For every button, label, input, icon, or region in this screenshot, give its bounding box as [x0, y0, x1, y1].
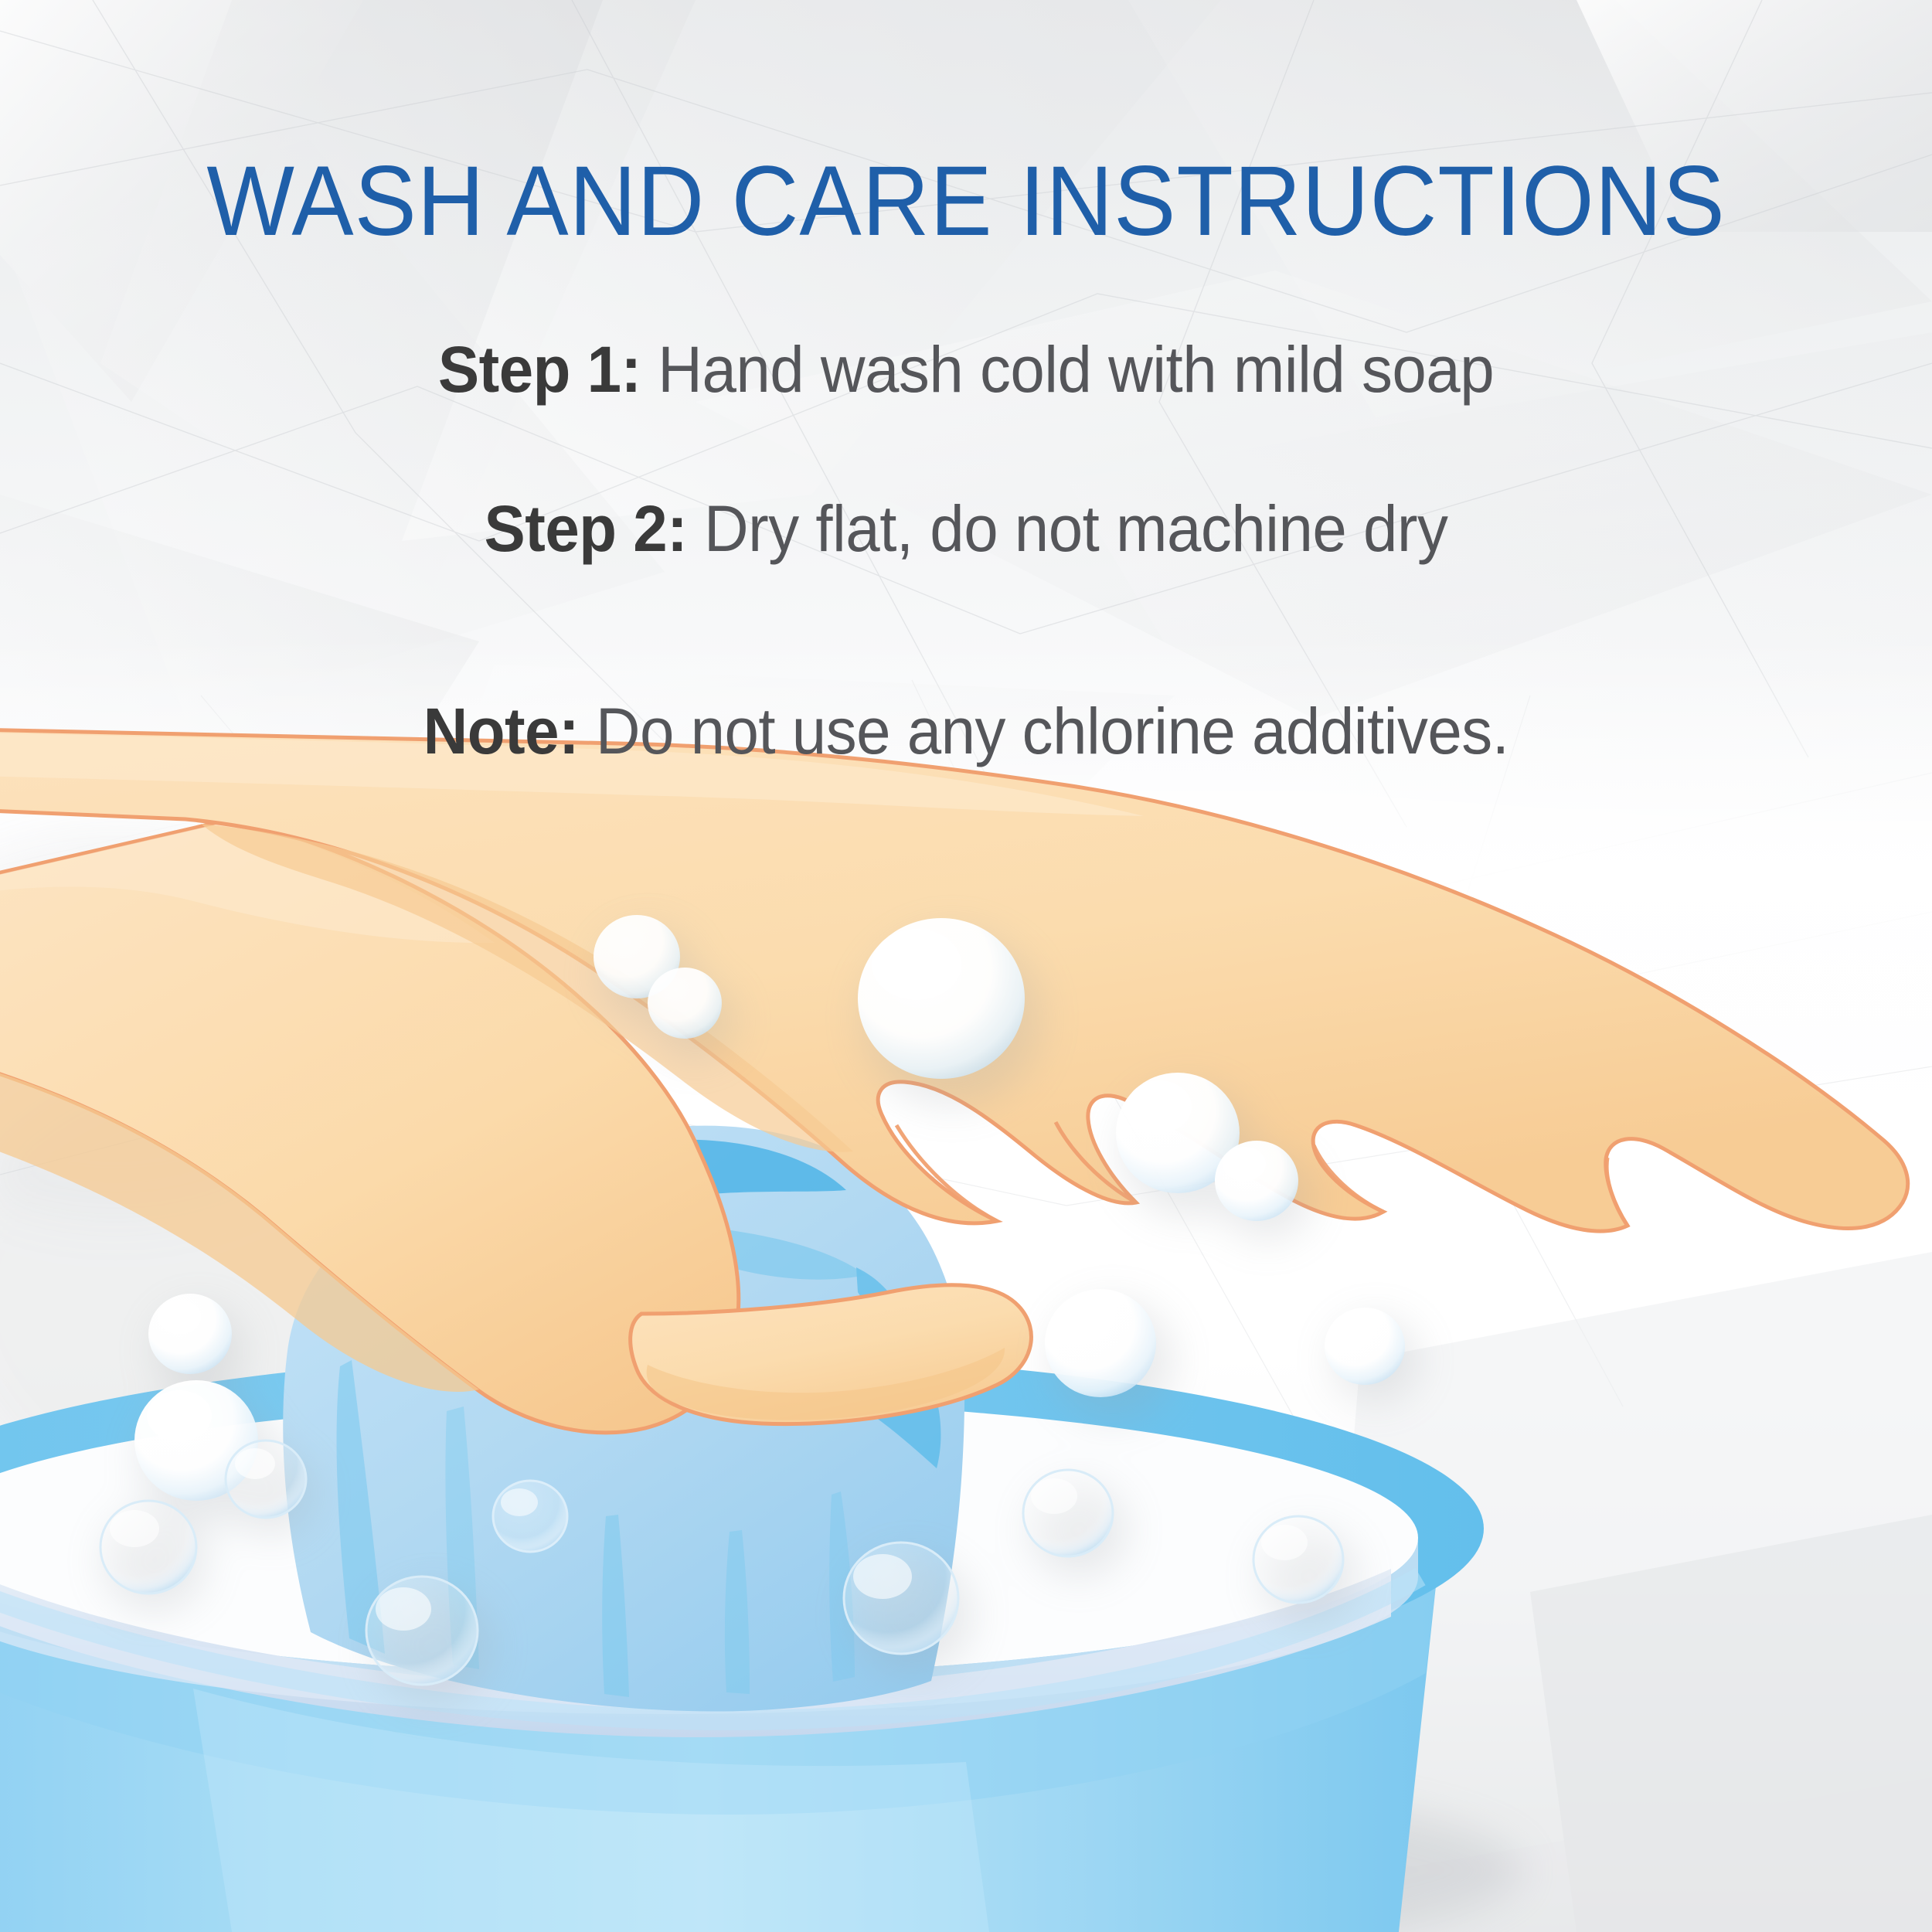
step-1-label: Step 1: [438, 333, 641, 406]
instruction-text-block: WASH AND CARE INSTRUCTIONS Step 1: Hand … [0, 0, 1932, 850]
step-1-value: Hand wash cold with mild soap [641, 333, 1494, 406]
note-value: Do not use any chlorine additives. [579, 695, 1509, 767]
step-2-line: Step 2: Dry flat, do not machine dry [49, 495, 1884, 563]
page-title: WASH AND CARE INSTRUCTIONS [58, 151, 1874, 253]
wash-care-poster: WASH AND CARE INSTRUCTIONS Step 1: Hand … [0, 0, 1932, 1932]
step-1-line: Step 1: Hand wash cold with mild soap [49, 335, 1884, 403]
step-2-value: Dry flat, do not machine dry [687, 492, 1447, 565]
note-line: Note: Do not use any chlorine additives. [49, 697, 1884, 765]
note-label: Note: [423, 695, 580, 767]
step-2-label: Step 2: [485, 492, 688, 565]
